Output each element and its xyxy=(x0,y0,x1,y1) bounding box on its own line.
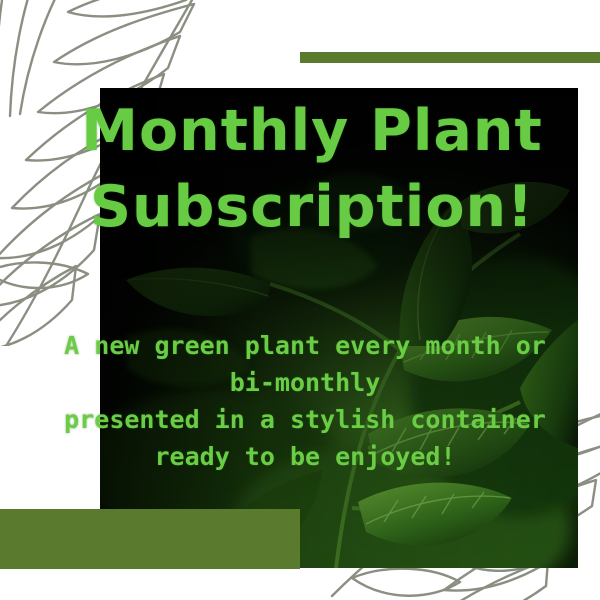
olive-bar-top xyxy=(300,52,600,63)
page-title: Monthly Plant Subscription! xyxy=(0,93,600,245)
olive-bar-bottom xyxy=(0,509,300,569)
body-copy: A new green plant every month or bi-mont… xyxy=(0,327,600,475)
body-line-4: ready to be enjoyed! xyxy=(10,438,600,475)
headline-line-1: Monthly Plant xyxy=(24,93,600,169)
headline-line-2: Subscription! xyxy=(24,169,600,245)
body-line-2: bi-monthly xyxy=(10,364,600,401)
body-line-3: presented in a stylish container xyxy=(10,401,600,438)
poster-canvas: Monthly Plant Subscription! A new green … xyxy=(0,0,600,600)
body-line-1: A new green plant every month or xyxy=(10,327,600,364)
